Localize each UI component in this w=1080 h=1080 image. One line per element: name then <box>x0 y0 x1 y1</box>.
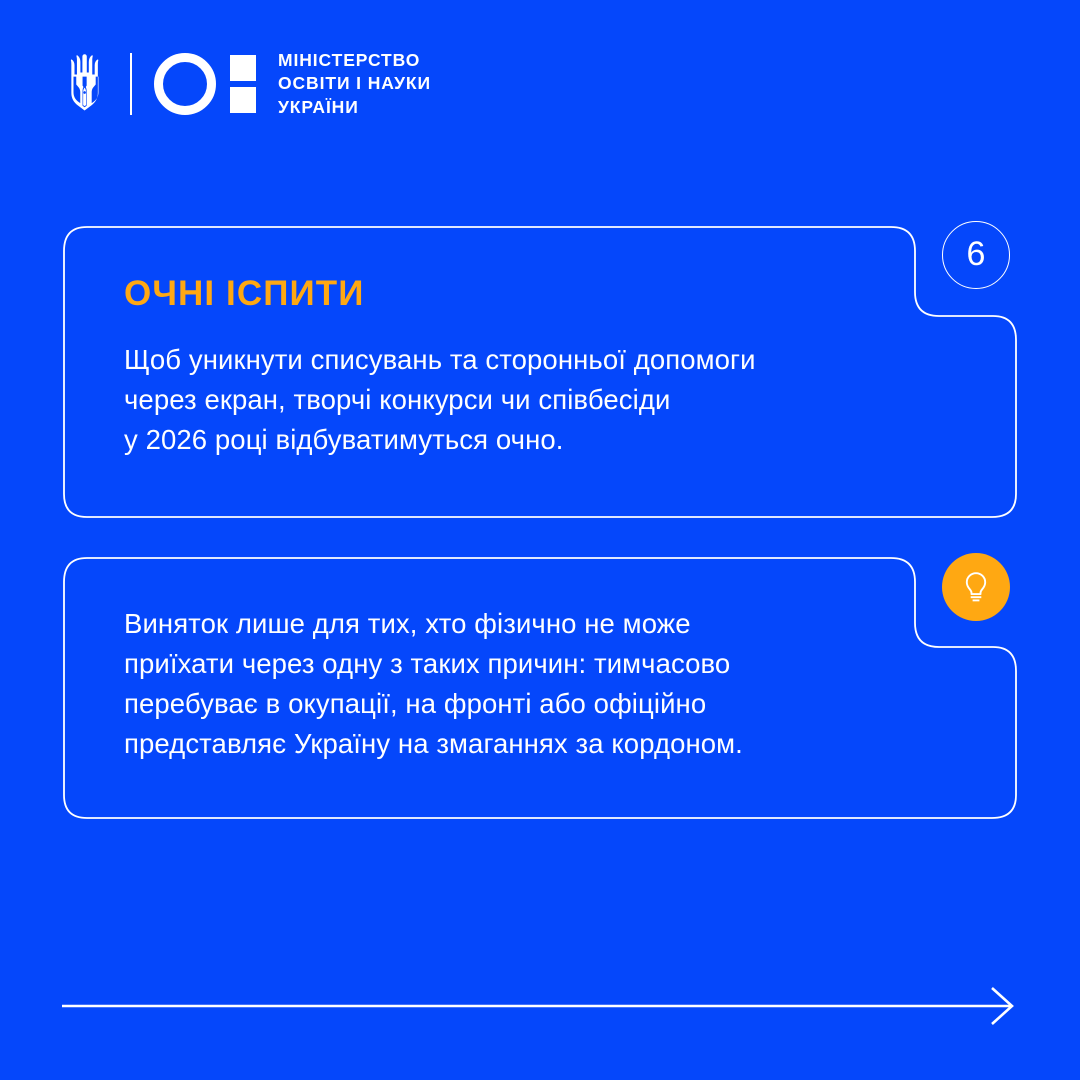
card-exams: ОЧНІ ІСПИТИ Щоб уникнути списувань та ст… <box>63 226 1017 518</box>
header-logo-lockup: МІНІСТЕРСТВО ОСВІТИ І НАУКИ УКРАЇНИ <box>62 48 431 120</box>
ministry-name-line-3: УКРАЇНИ <box>278 96 431 119</box>
card-exams-text-line-2: через екран, творчі конкурси чи співбесі… <box>124 380 954 420</box>
card-exams-title: ОЧНІ ІСПИТИ <box>124 274 365 314</box>
mon-bar-bottom <box>230 87 256 113</box>
mon-bar-top <box>230 55 256 81</box>
ministry-name: МІНІСТЕРСТВО ОСВІТИ І НАУКИ УКРАЇНИ <box>278 49 431 118</box>
ministry-name-line-1: МІНІСТЕРСТВО <box>278 49 431 72</box>
card-exception-text: Виняток лише для тих, хто фізично не мож… <box>124 604 934 764</box>
card-exams-text-line-3: у 2026 році відбуватимуться очно. <box>124 420 954 460</box>
step-number-label: 6 <box>967 237 986 271</box>
logo-divider <box>130 53 132 115</box>
mon-o-mark <box>154 53 216 115</box>
card-exception-text-line-4: представляє Україну на змаганнях за корд… <box>124 724 934 764</box>
card-exception-text-line-1: Виняток лише для тих, хто фізично не мож… <box>124 604 934 644</box>
ministry-name-line-2: ОСВІТИ І НАУКИ <box>278 72 431 95</box>
card-exams-text-line-1: Щоб уникнути списувань та сторонньої доп… <box>124 340 954 380</box>
tip-badge <box>942 553 1010 621</box>
card-exception-text-line-2: приїхати через одну з таких причин: тимч… <box>124 644 934 684</box>
lightbulb-icon <box>958 569 994 605</box>
next-slide-arrow[interactable] <box>62 985 1017 1027</box>
mon-bars-mark <box>230 55 256 113</box>
card-exception-text-line-3: перебуває в окупації, на фронті або офіц… <box>124 684 934 724</box>
card-exception: Виняток лише для тих, хто фізично не мож… <box>63 557 1017 819</box>
ukraine-trident-emblem <box>62 53 108 115</box>
card-exams-text: Щоб уникнути списувань та сторонньої доп… <box>124 340 954 460</box>
step-number-badge: 6 <box>942 221 1010 289</box>
